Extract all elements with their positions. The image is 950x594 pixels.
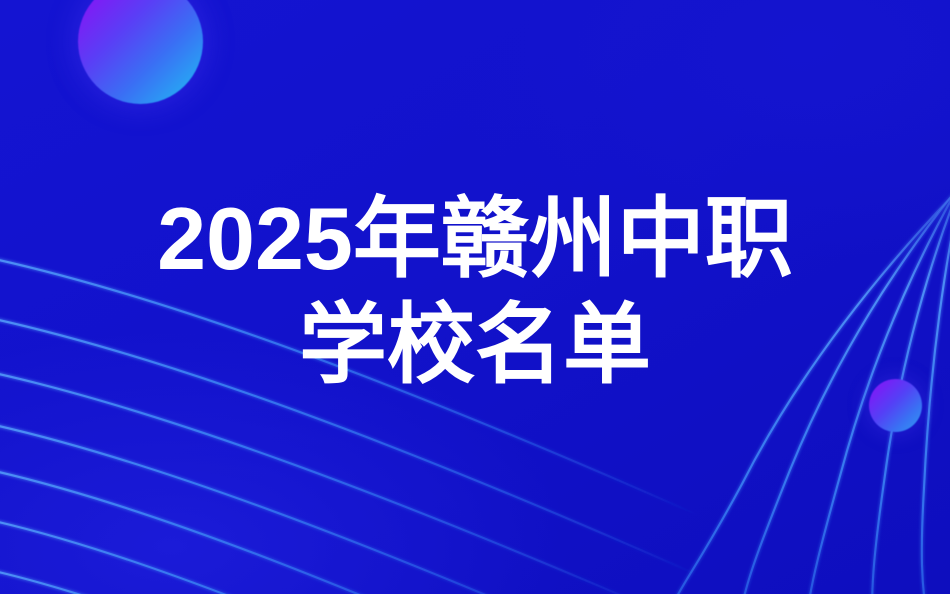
headline-line-1: 2025年赣州中职	[157, 195, 793, 283]
headline-line-2: 学校名单	[299, 301, 651, 389]
promo-banner: 2025年赣州中职 学校名单	[0, 0, 950, 594]
headline-block: 2025年赣州中职 学校名单	[0, 0, 950, 594]
